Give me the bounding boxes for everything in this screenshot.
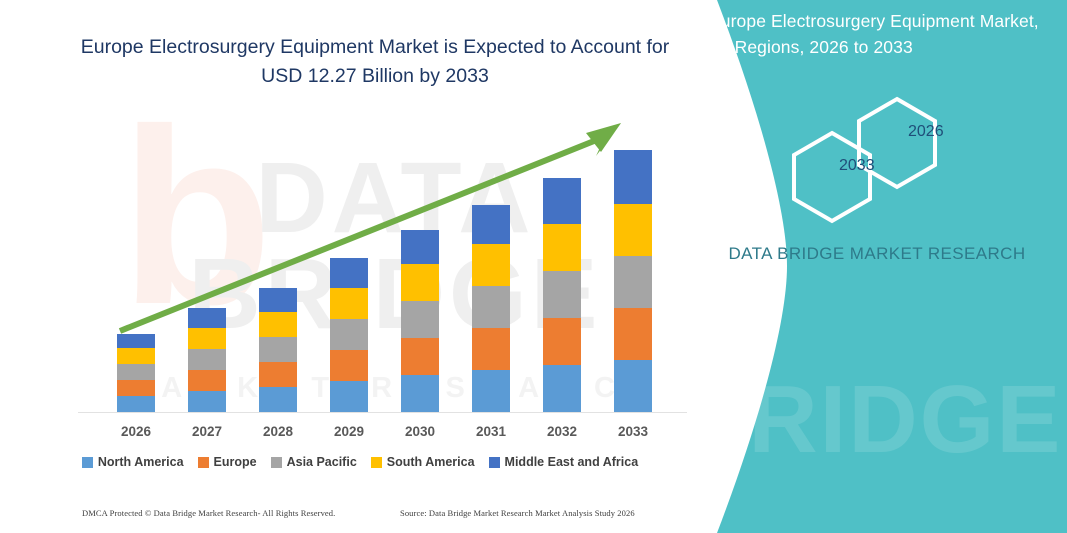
legend-item[interactable]: North America — [82, 455, 184, 469]
panel-title: Europe Electrosurgery Equipment Market, … — [709, 8, 1059, 60]
bar-segment — [472, 205, 510, 244]
chart-plot-area: 20262027202820292030203120322033 North A… — [0, 0, 720, 533]
bar-segment — [472, 328, 510, 370]
panel-brand-text: DATA BRIDGE MARKET RESEARCH — [687, 240, 1067, 268]
bar-segment — [117, 348, 155, 364]
bar-column — [188, 308, 226, 412]
legend-label: Asia Pacific — [287, 455, 357, 469]
legend-swatch-icon — [489, 457, 500, 468]
bar-column — [117, 334, 155, 412]
footer-copyright: DMCA Protected © Data Bridge Market Rese… — [82, 508, 335, 518]
bar-column — [330, 258, 368, 412]
x-axis-label: 2029 — [319, 424, 379, 439]
hexagon-group: 2026 2033 — [777, 95, 1007, 225]
bar-segment — [330, 381, 368, 412]
bar-segment — [188, 328, 226, 349]
bar-segment — [330, 288, 368, 319]
legend-swatch-icon — [271, 457, 282, 468]
bar-segment — [188, 308, 226, 328]
bar-segment — [543, 318, 581, 365]
bar-segment — [401, 230, 439, 264]
bar-segment — [259, 362, 297, 387]
bar-segment — [117, 334, 155, 348]
bar-segment — [259, 288, 297, 312]
bar-segment — [543, 178, 581, 224]
legend-label: North America — [98, 455, 184, 469]
footer-bar: DMCA Protected © Data Bridge Market Rese… — [0, 508, 720, 524]
bar-column — [259, 288, 297, 412]
x-axis-label: 2026 — [106, 424, 166, 439]
bar-segment — [614, 308, 652, 360]
bar-segment — [259, 312, 297, 337]
bar-column — [472, 205, 510, 412]
legend-swatch-icon — [371, 457, 382, 468]
legend-swatch-icon — [82, 457, 93, 468]
bar-column — [614, 150, 652, 412]
bar-column — [543, 178, 581, 412]
bar-segment — [259, 387, 297, 412]
bar-segment — [472, 286, 510, 328]
legend-item[interactable]: Asia Pacific — [271, 455, 357, 469]
bar-segment — [188, 391, 226, 412]
legend-item[interactable]: South America — [371, 455, 475, 469]
hexagon-label-start: 2026 — [908, 123, 944, 141]
x-axis-label: 2027 — [177, 424, 237, 439]
bar-segment — [614, 204, 652, 256]
bar-segment — [117, 396, 155, 412]
legend-item[interactable]: Europe — [198, 455, 257, 469]
legend-item[interactable]: Middle East and Africa — [489, 455, 639, 469]
legend-label: Europe — [214, 455, 257, 469]
bar-segment — [188, 349, 226, 370]
bar-segment — [472, 370, 510, 412]
bar-segment — [472, 244, 510, 286]
bar-segment — [614, 256, 652, 308]
bar-segment — [543, 224, 581, 271]
bar-segment — [330, 350, 368, 381]
x-axis-label: 2033 — [603, 424, 663, 439]
bar-segment — [259, 337, 297, 362]
x-axis-label: 2031 — [461, 424, 521, 439]
bar-segment — [614, 150, 652, 204]
legend-swatch-icon — [198, 457, 209, 468]
chart-legend: North AmericaEuropeAsia PacificSouth Ame… — [0, 455, 720, 469]
bar-segment — [614, 360, 652, 412]
footer-source: Source: Data Bridge Market Research Mark… — [400, 508, 635, 518]
infographic-canvas: b DATA BRIDGE MARKET RESEARCH Europe Ele… — [0, 0, 1067, 533]
x-axis-label: 2028 — [248, 424, 308, 439]
x-axis-label: 2032 — [532, 424, 592, 439]
bar-segment — [401, 264, 439, 301]
bar-segment — [188, 370, 226, 391]
hexagon-shapes-icon — [777, 95, 1007, 225]
bar-segment — [401, 375, 439, 412]
bar-segment — [330, 319, 368, 350]
bar-segment — [543, 271, 581, 318]
bar-segment — [401, 301, 439, 338]
legend-label: South America — [387, 455, 475, 469]
bar-segment — [401, 338, 439, 375]
hexagon-label-end: 2033 — [839, 157, 875, 175]
right-panel: BRIDGE Europe Electrosurgery Equipment M… — [687, 0, 1067, 533]
bar-segment — [330, 258, 368, 288]
x-axis-label: 2030 — [390, 424, 450, 439]
bar-segment — [117, 380, 155, 396]
x-axis-labels: 20262027202820292030203120322033 — [0, 424, 720, 446]
bar-column — [401, 230, 439, 412]
bar-segment — [543, 365, 581, 412]
bar-segment — [117, 364, 155, 380]
legend-label: Middle East and Africa — [505, 455, 639, 469]
